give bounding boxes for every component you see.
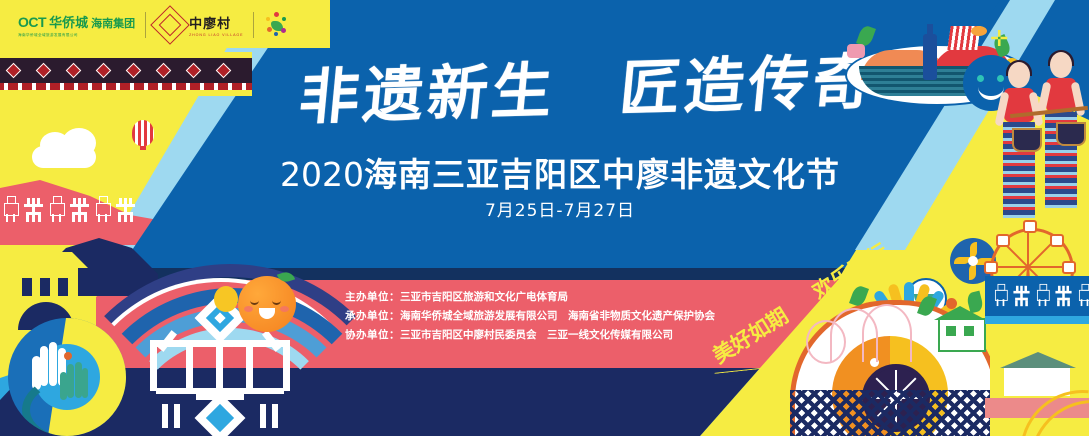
organizer-value: 海南华侨城全域旅游发展有限公司 海南省非物质文化遗产保护协会 xyxy=(400,310,715,322)
hands-circle-logo xyxy=(8,318,126,436)
organizer-label: 主办单位： xyxy=(345,291,400,303)
organizer-row: 协办单位：三亚市吉阳区中廖村民委员会 三亚一线文化传媒有限公司 xyxy=(345,326,765,345)
brocade-figure-row-left xyxy=(2,196,135,222)
organizer-value: 三亚市吉阳区旅游和文化广电体育局 xyxy=(400,291,568,303)
page-title: 非遗新生 匠造传奇 xyxy=(296,45,825,137)
organizer-row: 主办单位：三亚市吉阳区旅游和文化广电体育局 xyxy=(345,288,765,307)
diamond-emblem-icon xyxy=(150,5,190,45)
oct-logo[interactable]: OCT 华侨城 海南集团 海南华侨城全域旅游发展有限公司 xyxy=(18,12,135,38)
festival-subtitle: 2020海南三亚吉阳区中廖非遗文化节 xyxy=(250,148,870,196)
oct-cn-secondary: 海南集团 xyxy=(91,15,135,31)
logo-group: OCT 华侨城 海南集团 海南华侨城全域旅游发展有限公司 中廖村 ZHONG L… xyxy=(18,6,318,44)
organizer-label: 承办单位： xyxy=(345,310,400,322)
basket-icon xyxy=(1056,122,1086,146)
oct-cn-primary: 华侨城 xyxy=(49,12,88,31)
brocade-strip-right-edge xyxy=(985,316,1089,324)
organizer-value: 三亚市吉阳区中廖村民委员会 三亚一线文化传媒有限公司 xyxy=(400,329,673,341)
orange-mascot-icon xyxy=(238,276,300,338)
zhongliao-cn: 中廖村 xyxy=(189,13,243,32)
zhongliao-en: ZHONG LIAO VILLAGE xyxy=(189,33,243,37)
hot-air-balloon-icon xyxy=(132,120,154,150)
festival-name: 海南三亚吉阳区中廖非遗文化节 xyxy=(364,156,840,193)
roller-coaster-icon xyxy=(800,302,920,366)
flower-emblem-icon xyxy=(264,12,290,38)
logo-divider-1 xyxy=(145,12,146,38)
organizer-label: 协办单位： xyxy=(345,329,400,341)
festival-date: 7月25日-7月27日 xyxy=(250,196,870,221)
basket-icon xyxy=(1012,128,1042,152)
li-brocade-band xyxy=(0,52,252,96)
house-icon xyxy=(1000,352,1078,396)
logo-divider-2 xyxy=(253,12,254,38)
oct-subtitle: 海南华侨城全域旅游发展有限公司 xyxy=(18,33,135,38)
dot-decor xyxy=(946,298,957,309)
organizer-list: 主办单位：三亚市吉阳区旅游和文化广电体育局 承办单位：海南华侨城全域旅游发展有限… xyxy=(345,288,765,345)
bottle-icon xyxy=(923,34,937,80)
plus-sparkle-icon: ✛ xyxy=(990,28,1008,50)
organizer-row: 承办单位：海南华侨城全域旅游发展有限公司 海南省非物质文化遗产保护协会 xyxy=(345,307,765,326)
oct-wordmark: OCT xyxy=(18,14,46,30)
yellow-balloon-icon xyxy=(214,286,238,314)
festival-poster: OCT 华侨城 海南集团 海南华侨城全域旅游发展有限公司 中廖村 ZHONG L… xyxy=(0,0,1089,436)
festival-year: 2020 xyxy=(280,155,364,194)
brocade-figure-row-right xyxy=(992,282,1089,308)
zhongliao-logo[interactable]: 中廖村 ZHONG LIAO VILLAGE xyxy=(156,11,243,39)
